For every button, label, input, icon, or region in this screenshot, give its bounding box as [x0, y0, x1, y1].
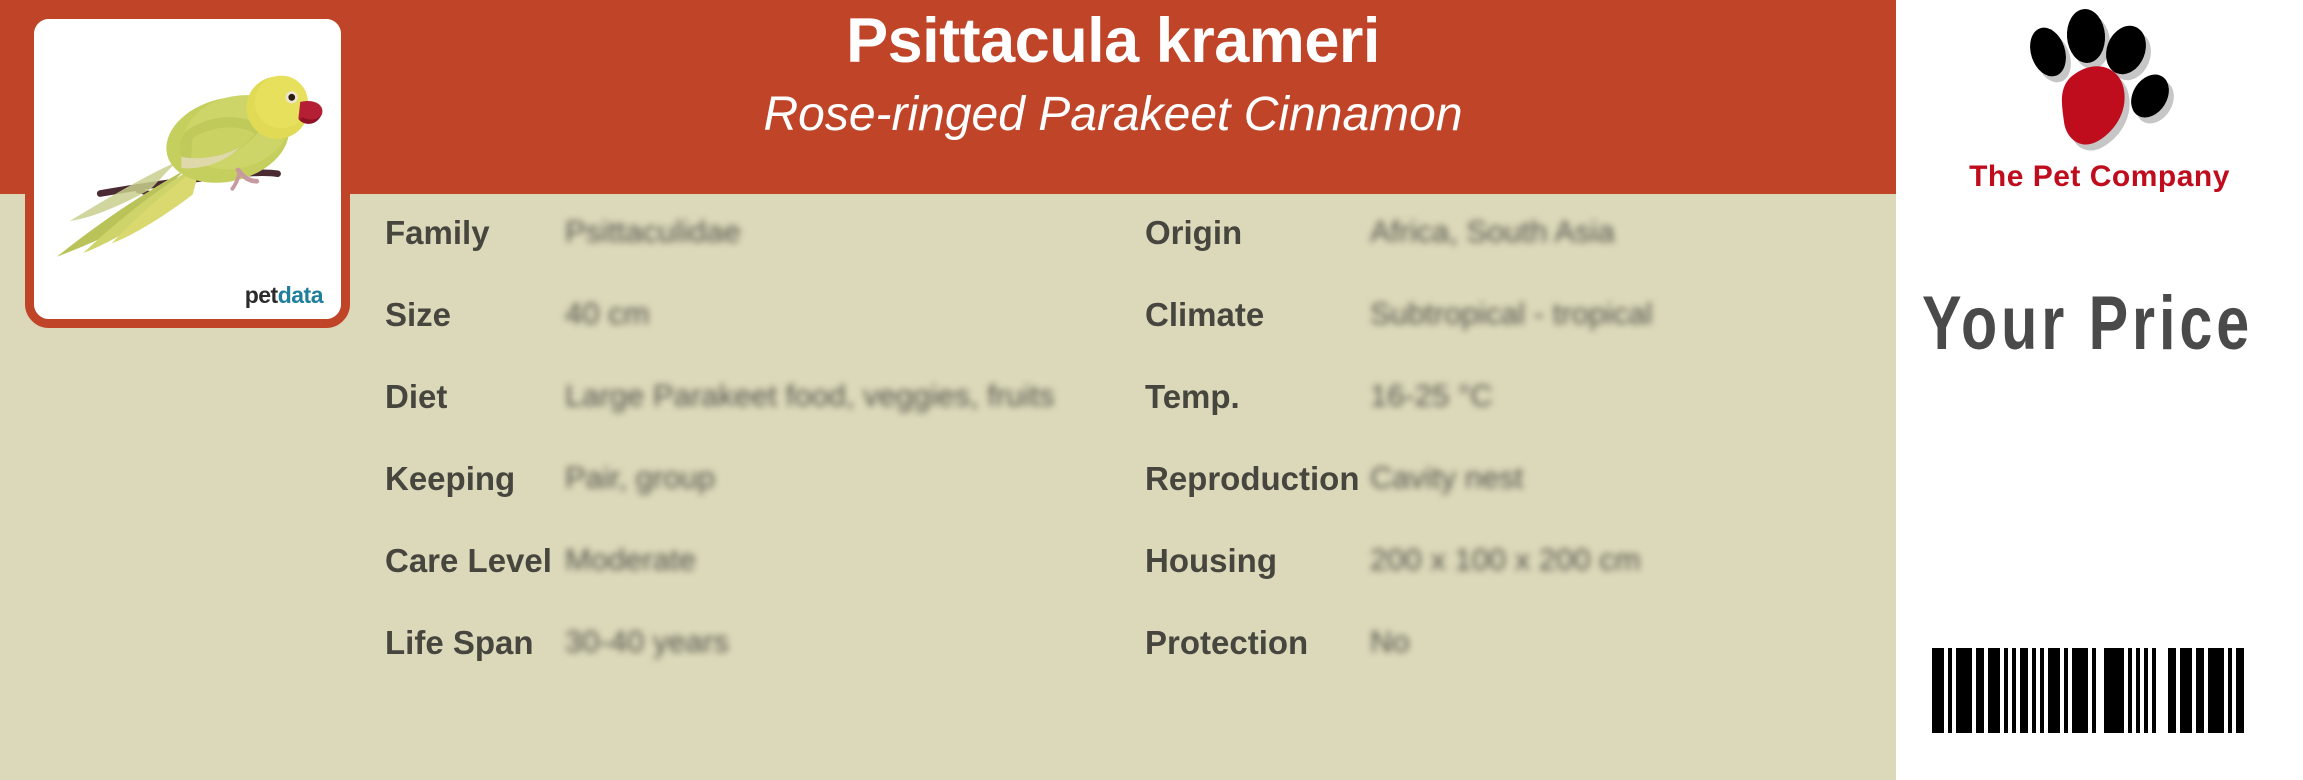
spec-value-life-span: 30-40 years [565, 624, 729, 660]
spec-value-family: Psittaculidae [565, 214, 741, 250]
spec-row: Origin Africa, South Asia [1145, 194, 1885, 276]
spec-value-reproduction: Cavity nest [1370, 460, 1523, 496]
spec-row: Temp. 16-25 °C [1145, 358, 1885, 440]
header-left-rail [0, 0, 26, 194]
barcode [1932, 648, 2244, 733]
spec-row: Climate Subtropical - tropical [1145, 276, 1885, 358]
barcode-bar [2104, 648, 2124, 733]
spec-label-size: Size [385, 296, 451, 334]
spec-label-family: Family [385, 214, 490, 252]
spec-value-size: 40 cm [565, 296, 649, 332]
paw-print-icon [2000, 6, 2200, 166]
spec-label-temp: Temp. [1145, 378, 1240, 416]
spec-value-protection: No [1370, 624, 1410, 660]
spec-value-housing: 200 x 100 x 200 cm [1370, 542, 1641, 578]
spec-column-right: Origin Africa, South Asia Climate Subtro… [1145, 194, 1885, 686]
barcode-space [2096, 648, 2104, 733]
barcode-bar [1988, 648, 2000, 733]
barcode-bar [2020, 648, 2028, 733]
spec-label-diet: Diet [385, 378, 447, 416]
spec-value-temp: 16-25 °C [1370, 378, 1493, 414]
barcode-bar [1956, 648, 1972, 733]
barcode-bar [2180, 648, 2192, 733]
barcode-bar [2236, 648, 2244, 733]
spec-label-life-span: Life Span [385, 624, 534, 662]
spec-label-origin: Origin [1145, 214, 1242, 252]
barcode-bar [2196, 648, 2204, 733]
brand-logo: The Pet Company [1896, 6, 2303, 201]
brand-name: The Pet Company [1896, 160, 2303, 194]
spec-label-care-level: Care Level [385, 542, 552, 580]
spec-row: Protection No [1145, 604, 1885, 686]
spec-row: Family Psittaculidae [385, 194, 1145, 276]
spec-row: Life Span 30-40 years [385, 604, 1145, 686]
spec-value-origin: Africa, South Asia [1370, 214, 1615, 250]
spec-column-left: Family Psittaculidae Size 40 cm Diet Lar… [385, 194, 1145, 686]
spec-row: Care Level Moderate [385, 522, 1145, 604]
pet-info-price-card: Psittacula krameri Rose-ringed Parakeet … [0, 0, 2303, 780]
spec-value-care-level: Moderate [565, 542, 696, 578]
spec-label-protection: Protection [1145, 624, 1308, 662]
barcode-space [2156, 648, 2168, 733]
price-panel: The Pet Company Your Price [1896, 0, 2303, 780]
barcode-bar [2072, 648, 2088, 733]
spec-row: Diet Large Parakeet food, veggies, fruit… [385, 358, 1145, 440]
spec-row: Size 40 cm [385, 276, 1145, 358]
spec-row: Keeping Pair, group [385, 440, 1145, 522]
barcode-bar [2208, 648, 2224, 733]
spec-row: Housing 200 x 100 x 200 cm [1145, 522, 1885, 604]
barcode-bar [1976, 648, 1984, 733]
spec-value-keeping: Pair, group [565, 460, 715, 496]
main-info-panel: Psittacula krameri Rose-ringed Parakeet … [0, 0, 1896, 780]
spec-value-diet: Large Parakeet food, veggies, fruits [565, 378, 1054, 414]
spec-table: Family Psittaculidae Size 40 cm Diet Lar… [0, 194, 1896, 780]
spec-label-reproduction: Reproduction [1145, 460, 1359, 498]
spec-row: Reproduction Cavity nest [1145, 440, 1885, 522]
scientific-name: Psittacula krameri [330, 10, 1896, 73]
spec-label-keeping: Keeping [385, 460, 515, 498]
title-block: Psittacula krameri Rose-ringed Parakeet … [330, 10, 1896, 139]
spec-label-climate: Climate [1145, 296, 1264, 334]
barcode-bar [2168, 648, 2176, 733]
your-price-label: Your Price [1922, 286, 2253, 362]
barcode-bar [1932, 648, 1944, 733]
spec-value-climate: Subtropical - tropical [1370, 296, 1653, 332]
spec-label-housing: Housing [1145, 542, 1277, 580]
common-name: Rose-ringed Parakeet Cinnamon [330, 91, 1896, 139]
barcode-bar [2048, 648, 2060, 733]
